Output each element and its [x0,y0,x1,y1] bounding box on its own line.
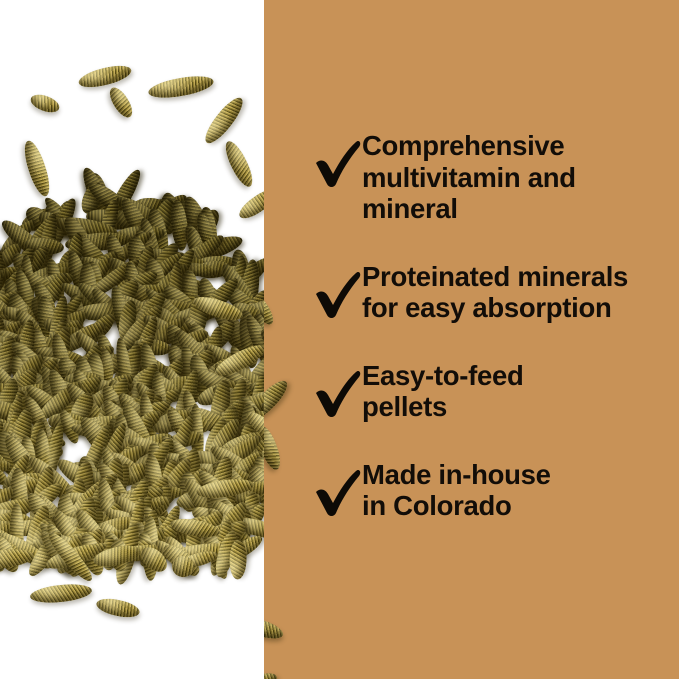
benefit-label: Comprehensive multivitamin and mineral [362,128,672,225]
benefit-label: Easy-to-feed pellets [362,358,672,423]
feed-pellet [264,669,279,679]
pellet-pile-image [0,0,300,679]
check-icon [314,461,362,517]
feed-pellet [221,138,257,190]
feed-pellet [229,539,247,579]
benefit-item-3: Easy-to-feed pellets [312,358,672,423]
benefit-label: Made in-house in Colorado [362,457,672,522]
feed-pellet [147,72,215,101]
check-icon [314,132,362,188]
feed-pellet [106,84,137,121]
benefits-panel: Comprehensive multivitamin and mineral P… [264,0,679,679]
feed-pellet [20,138,54,198]
feed-pellet [29,582,92,605]
benefits-list: Comprehensive multivitamin and mineral P… [312,128,672,556]
benefit-item-1: Comprehensive multivitamin and mineral [312,128,672,225]
feed-pellet [95,596,141,621]
product-photo-panel [0,0,264,679]
feed-pellet [28,91,61,115]
benefit-label: Proteinated minerals for easy absorption [362,259,672,324]
feed-pellet [264,287,278,328]
check-icon [314,362,362,418]
feed-pellet [264,376,292,425]
product-feature-image: Comprehensive multivitamin and mineral P… [0,0,679,679]
feed-pellet [200,93,248,148]
benefit-item-2: Proteinated minerals for easy absorption [312,259,672,324]
feed-pellet [264,424,284,473]
check-icon [314,263,362,319]
benefit-item-4: Made in-house in Colorado [312,457,672,522]
feed-pellet [77,62,134,92]
feed-pellet [264,613,285,642]
